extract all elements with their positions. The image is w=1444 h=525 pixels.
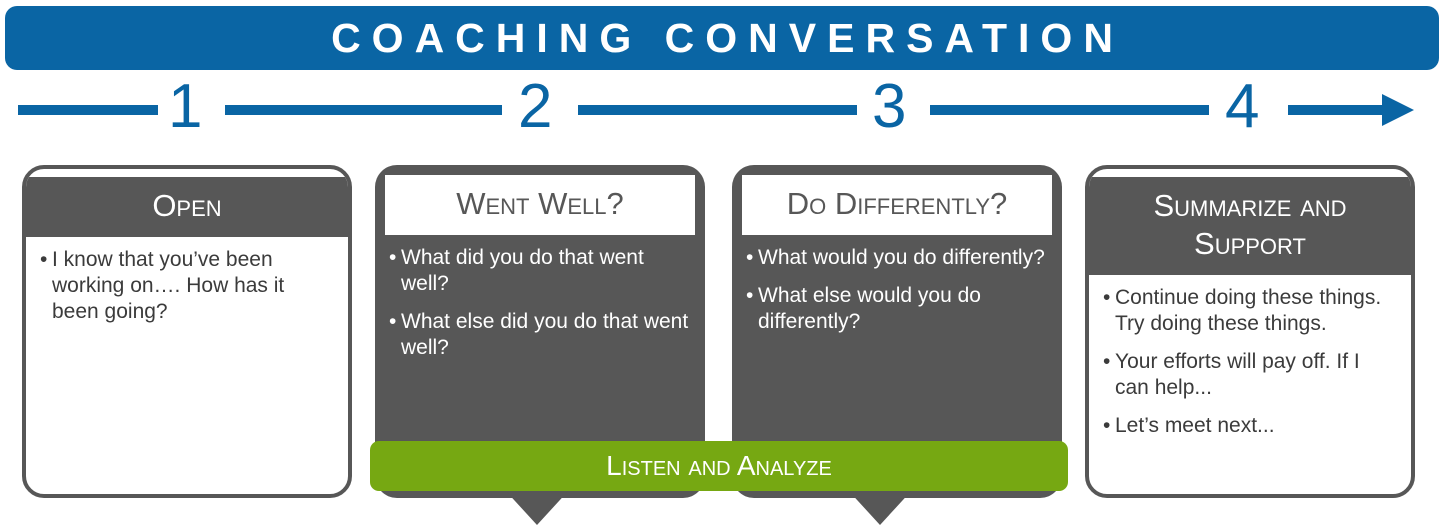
list-item-text: I know that you’ve been working on…. How… — [52, 247, 334, 325]
card-went-well-body: • What did you do that went well? • What… — [375, 235, 705, 361]
bullet-icon: • — [1103, 285, 1115, 337]
list-item: • What did you do that went well? — [389, 245, 691, 297]
arrow-right-icon — [1382, 94, 1414, 126]
list-item-text: Let’s meet next... — [1115, 413, 1397, 439]
list-item: • What else would you do differently? — [746, 283, 1048, 335]
step-rule-3 — [930, 105, 1209, 115]
bullet-icon: • — [389, 309, 401, 361]
list-item: • I know that you’ve been working on…. H… — [40, 247, 334, 325]
list-item-text: Your efforts will pay off. If I can help… — [1115, 349, 1397, 401]
step-rule-0 — [18, 105, 158, 115]
step-number-2: 2 — [518, 76, 552, 138]
list-item-text: What else did you do that went well? — [401, 309, 691, 361]
card-summarize-and-support-body: • Continue doing these things. Try doing… — [1089, 275, 1411, 439]
list-item: • Let’s meet next... — [1103, 413, 1397, 439]
bullet-icon: • — [746, 245, 758, 271]
card-went-well-title: Went Well? — [385, 175, 695, 235]
step-number-3: 3 — [872, 76, 906, 138]
list-item: • Your efforts will pay off. If I can he… — [1103, 349, 1397, 401]
step-rule-4 — [1288, 105, 1386, 115]
bullet-icon: • — [746, 283, 758, 335]
down-arrow-icon-left — [504, 489, 570, 525]
list-item: • What else did you do that went well? — [389, 309, 691, 361]
card-open[interactable]: Open • I know that you’ve been working o… — [22, 165, 352, 498]
header-banner: COACHING CONVERSATION — [5, 6, 1439, 70]
bullet-icon: • — [389, 245, 401, 297]
list-item-text: What did you do that went well? — [401, 245, 691, 297]
step-rule-1 — [225, 105, 502, 115]
list-item: • Continue doing these things. Try doing… — [1103, 285, 1397, 337]
card-open-body: • I know that you’ve been working on…. H… — [26, 237, 348, 325]
list-item-text: What else would you do differently? — [758, 283, 1048, 335]
step-number-1: 1 — [168, 76, 202, 138]
list-item-text: Continue doing these things. Try doing t… — [1115, 285, 1397, 337]
listen-and-analyze-bar[interactable]: Listen and Analyze — [370, 441, 1068, 491]
bullet-icon: • — [1103, 349, 1115, 401]
step-progress-strip: 1 2 3 4 — [0, 76, 1444, 144]
step-number-4: 4 — [1225, 76, 1259, 138]
step-rule-2 — [578, 105, 857, 115]
card-open-title: Open — [26, 177, 348, 237]
page-title: COACHING CONVERSATION — [320, 15, 1124, 62]
list-item: • What would you do differently? — [746, 245, 1048, 271]
card-do-differently-title: Do Differently? — [742, 175, 1052, 235]
listen-and-analyze-label: Listen and Analyze — [606, 450, 832, 482]
bullet-icon: • — [40, 247, 52, 325]
list-item-text: What would you do differently? — [758, 245, 1048, 271]
down-arrow-icon-right — [847, 489, 913, 525]
card-do-differently-body: • What would you do differently? • What … — [732, 235, 1062, 335]
bullet-icon: • — [1103, 413, 1115, 439]
card-summarize-and-support[interactable]: Summarize and Support • Continue doing t… — [1085, 165, 1415, 498]
card-summarize-and-support-title: Summarize and Support — [1089, 177, 1411, 275]
